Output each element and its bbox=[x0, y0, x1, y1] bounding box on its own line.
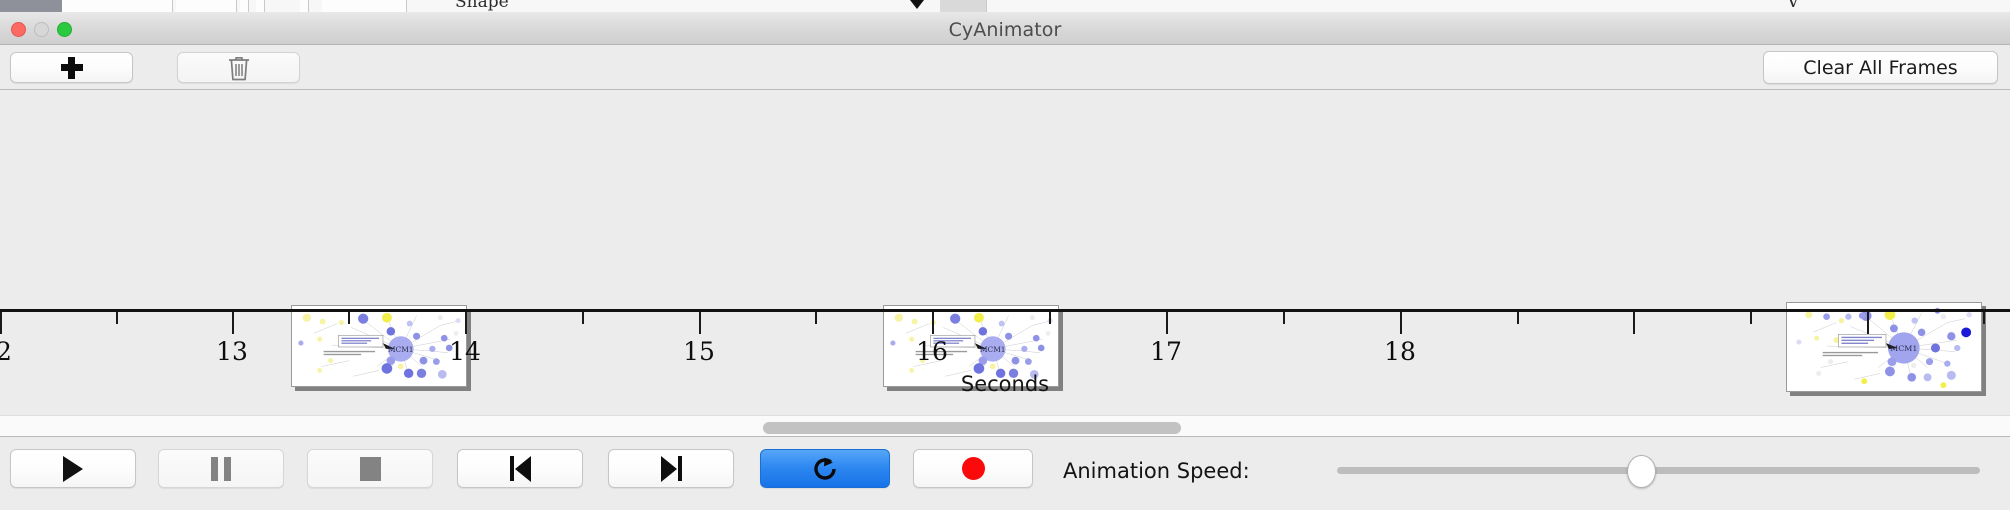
loop-button[interactable] bbox=[760, 449, 890, 488]
timeline-panel[interactable]: MCM1 bbox=[0, 90, 2010, 415]
trash-icon bbox=[226, 54, 252, 82]
background-window-block bbox=[176, 0, 237, 12]
background-window-block bbox=[256, 0, 265, 12]
axis-tick-label: 13 bbox=[216, 337, 248, 366]
axis-tick-major bbox=[1400, 312, 1402, 334]
axis-tick-major bbox=[1867, 312, 1869, 334]
axis-tick-minor bbox=[348, 312, 350, 324]
axis-tick-major bbox=[232, 312, 234, 334]
scrollbar-thumb[interactable] bbox=[763, 422, 1181, 434]
svg-text:MCM1: MCM1 bbox=[388, 345, 414, 354]
delete-frame-button[interactable] bbox=[177, 52, 300, 83]
pause-button[interactable] bbox=[158, 449, 284, 488]
skip-back-icon bbox=[510, 456, 531, 482]
axis-tick-minor bbox=[1517, 312, 1519, 324]
svg-text:MCM1: MCM1 bbox=[980, 345, 1006, 354]
record-icon bbox=[962, 457, 985, 480]
axis-tick-major bbox=[1633, 312, 1635, 334]
background-window-block bbox=[940, 0, 987, 12]
background-window-label: Shape bbox=[455, 0, 509, 12]
next-frame-button[interactable] bbox=[608, 449, 734, 488]
axis-tick-label: 16 bbox=[916, 337, 948, 366]
slider-thumb[interactable] bbox=[1627, 455, 1656, 488]
stop-icon bbox=[360, 457, 381, 481]
axis-tick-label: 18 bbox=[1384, 337, 1416, 366]
svg-text:MCM1: MCM1 bbox=[1890, 344, 1917, 353]
slider-track[interactable] bbox=[1337, 467, 1980, 474]
axis-tick-minor bbox=[1750, 312, 1752, 324]
pause-icon bbox=[211, 457, 231, 481]
axis-title: Seconds bbox=[0, 372, 2010, 396]
axis-tick-major bbox=[0, 312, 2, 334]
background-caret-icon bbox=[910, 0, 924, 9]
animation-speed-slider[interactable] bbox=[1337, 467, 1980, 474]
axis-tick-label: 15 bbox=[683, 337, 715, 366]
playback-controls: Animation Speed: bbox=[0, 437, 2010, 510]
loop-icon bbox=[810, 454, 840, 484]
window-title: CyAnimator bbox=[0, 19, 2010, 41]
animation-speed-label: Animation Speed: bbox=[1063, 459, 1250, 483]
axis-tick-minor bbox=[116, 312, 118, 324]
toolbar: Clear All Frames bbox=[0, 45, 2010, 90]
background-window-strip: Shape V bbox=[0, 0, 2010, 12]
axis-tick-label: 2 bbox=[0, 337, 12, 366]
plus-icon bbox=[61, 57, 83, 79]
axis-tick-minor bbox=[1049, 312, 1051, 324]
axis-tick-major bbox=[1166, 312, 1168, 334]
axis-tick-major bbox=[699, 312, 701, 334]
axis-tick-major bbox=[932, 312, 934, 334]
axis-tick-minor bbox=[1283, 312, 1285, 324]
title-bar[interactable]: CyAnimator bbox=[0, 12, 2010, 45]
axis-tick-minor bbox=[815, 312, 817, 324]
background-window-block bbox=[300, 0, 309, 12]
play-button[interactable] bbox=[10, 449, 136, 488]
timeline-axis bbox=[0, 309, 2010, 312]
background-window-block bbox=[322, 0, 407, 12]
record-button[interactable] bbox=[913, 449, 1033, 488]
axis-tick-minor bbox=[582, 312, 584, 324]
background-window-block bbox=[240, 0, 249, 12]
background-window-block bbox=[62, 0, 173, 12]
background-window-dark-block bbox=[0, 0, 62, 12]
clear-all-frames-button[interactable]: Clear All Frames bbox=[1763, 51, 1998, 84]
axis-tick-major bbox=[465, 312, 467, 334]
axis-tick-label: 17 bbox=[1150, 337, 1182, 366]
cyanimator-window: Shape V CyAnimator Clear All Frames bbox=[0, 0, 2010, 510]
play-icon bbox=[63, 456, 83, 482]
timeline-scrollbar[interactable] bbox=[0, 415, 2010, 437]
stop-button[interactable] bbox=[307, 449, 433, 488]
background-window-label-right: V bbox=[1787, 0, 1799, 12]
axis-tick-label: 14 bbox=[449, 337, 481, 366]
previous-frame-button[interactable] bbox=[457, 449, 583, 488]
add-frame-button[interactable] bbox=[10, 52, 133, 83]
skip-forward-icon bbox=[661, 456, 682, 482]
axis-tick-minor bbox=[1983, 312, 1985, 324]
